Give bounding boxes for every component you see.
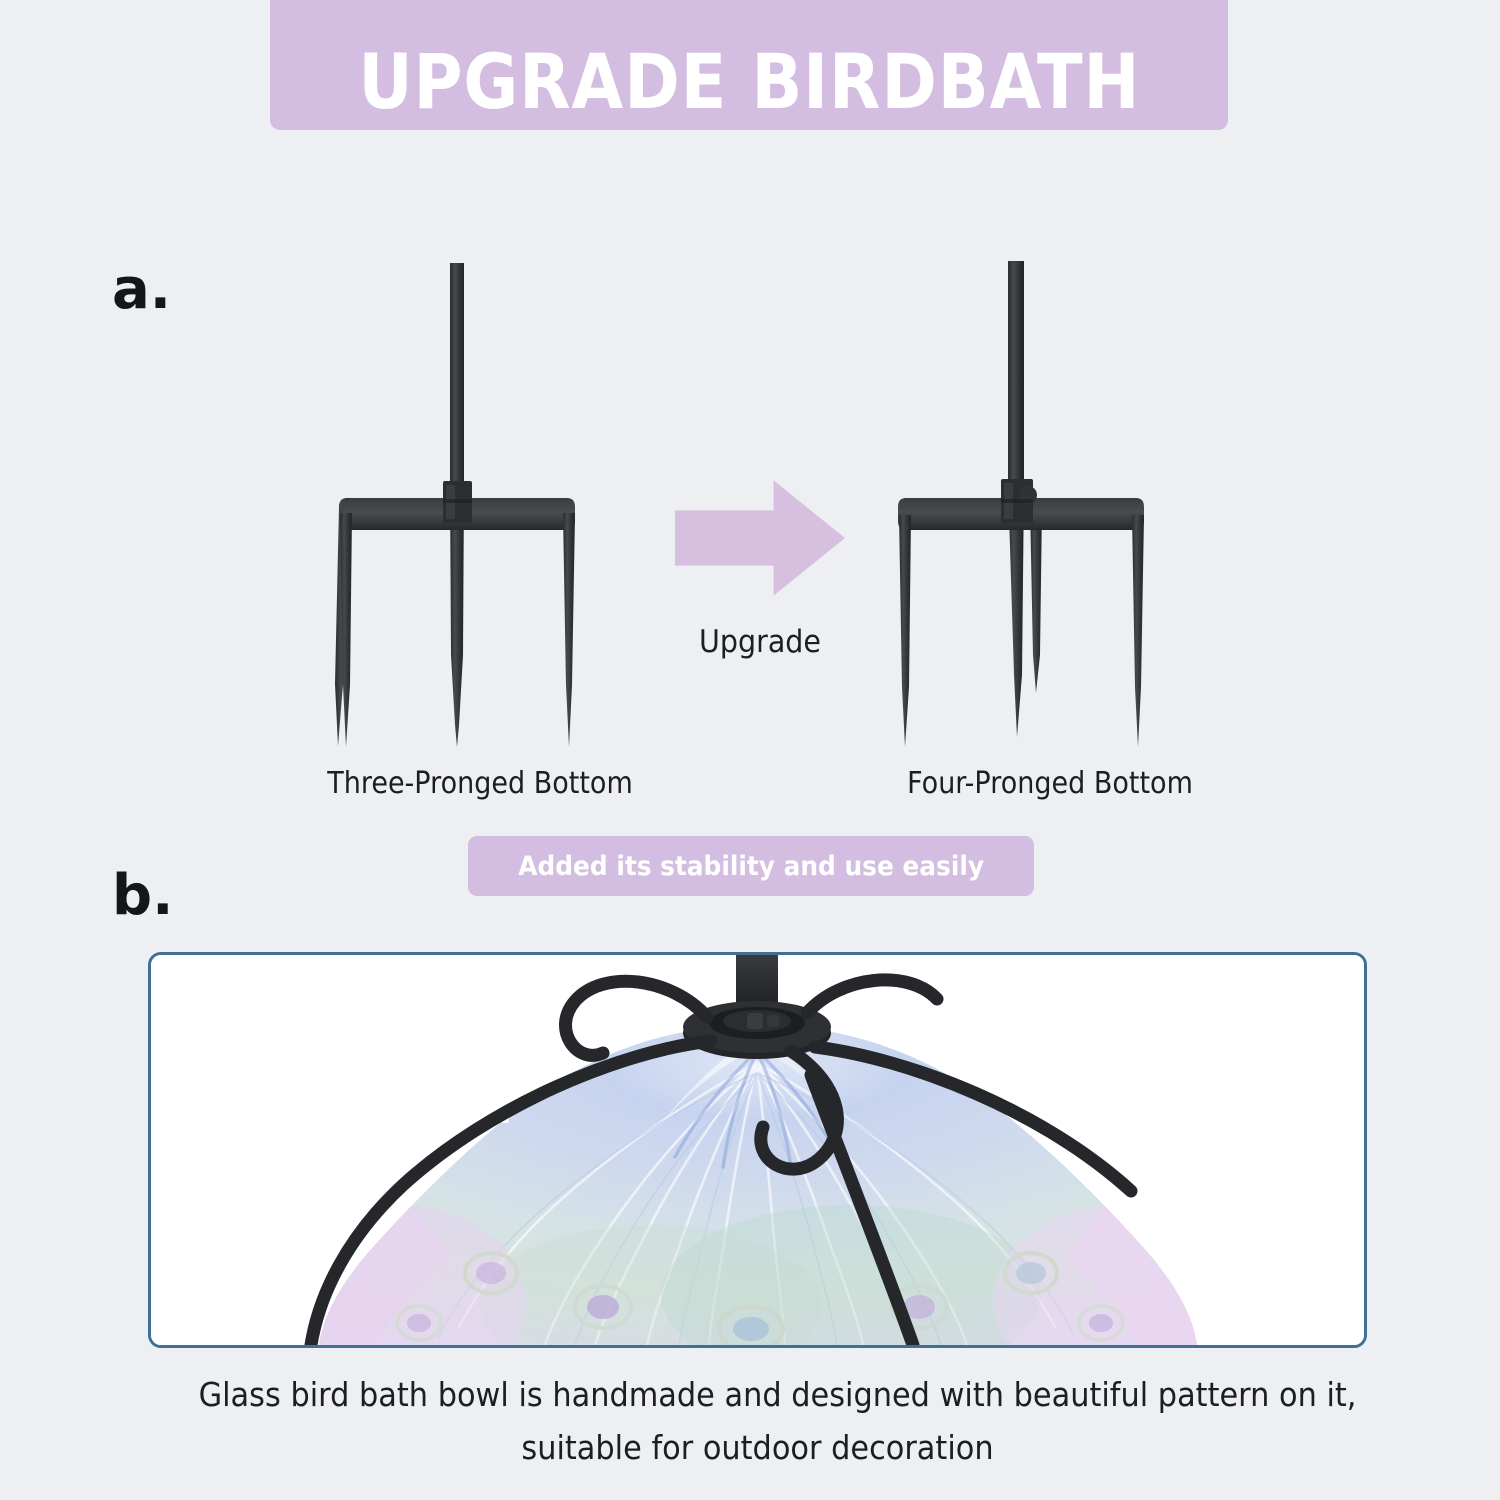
upgrade-label: Upgrade (668, 624, 852, 660)
photo-caption: Glass bird bath bowl is handmade and des… (199, 1368, 1317, 1475)
stability-banner-text: Added its stability and use easily (518, 851, 984, 882)
page-title: UPGRADE BIRDBATH (358, 44, 1140, 120)
photo-caption-line-2: suitable for outdoor decoration (199, 1421, 1317, 1474)
three-pronged-stake-icon (300, 255, 660, 775)
four-pronged-stake-icon (870, 255, 1230, 775)
section-label-a: a. (112, 262, 171, 318)
three-pronged-caption: Three-Pronged Bottom (318, 766, 642, 801)
section-label-b: b. (112, 868, 173, 924)
glass-birdbath-bowl-photo (148, 952, 1367, 1348)
photo-caption-line-1: Glass bird bath bowl is handmade and des… (199, 1368, 1317, 1421)
header-banner: UPGRADE BIRDBATH (270, 0, 1228, 130)
upgrade-arrow-group: Upgrade (660, 478, 860, 660)
right-arrow-icon (675, 478, 845, 598)
stability-banner: Added its stability and use easily (468, 836, 1034, 896)
four-pronged-caption: Four-Pronged Bottom (888, 766, 1212, 801)
product-infographic: UPGRADE BIRDBATH a. (0, 0, 1500, 1500)
